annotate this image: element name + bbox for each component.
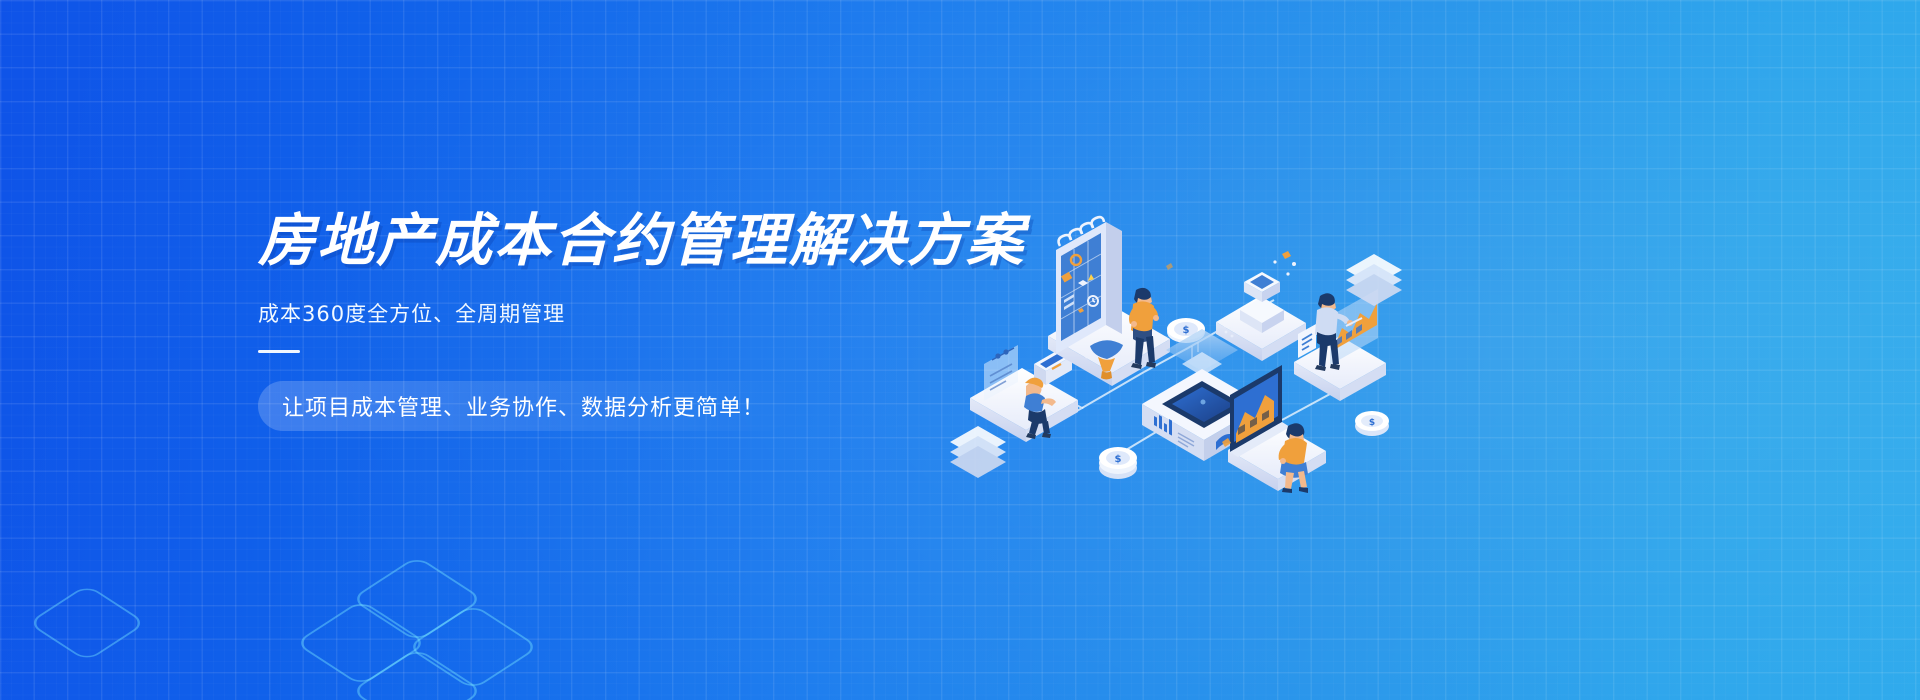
decor-rhombus-icon [294, 600, 428, 687]
decor-rhombus-icon [27, 584, 147, 662]
decor-rhombus-icon [350, 556, 484, 643]
tagline-pill: 让项目成本管理、业务协作、数据分析更简单！ [258, 381, 791, 431]
decor-rhombus-icon [350, 648, 484, 700]
hero-banner: $ [0, 0, 1920, 700]
floating-card-stack-icon [950, 426, 1006, 478]
platform-chart [1294, 254, 1402, 401]
decor-rhombus-icon [406, 604, 540, 691]
svg-text:$: $ [1183, 325, 1190, 336]
platform-cube [1216, 251, 1306, 361]
tagline-text: 让项目成本管理、业务协作、数据分析更简单！ [282, 390, 765, 422]
svg-text:$: $ [1369, 418, 1375, 428]
platform-documents [970, 345, 1078, 442]
title-divider [258, 350, 300, 353]
card-stack-icon [1346, 254, 1402, 306]
page-subtitle: 成本360度全方位、全周期管理 [258, 298, 978, 328]
hero-copy: 房地产成本合约管理解决方案 成本360度全方位、全周期管理 [258, 212, 978, 353]
platform-dashboard [1228, 365, 1326, 493]
coin-3-icon: $ [1099, 447, 1137, 479]
hero-illustration: $ [930, 150, 1410, 480]
svg-text:$: $ [1115, 454, 1122, 465]
coin-2-icon: $ [1355, 411, 1389, 436]
page-title: 房地产成本合约管理解决方案 [258, 212, 978, 272]
